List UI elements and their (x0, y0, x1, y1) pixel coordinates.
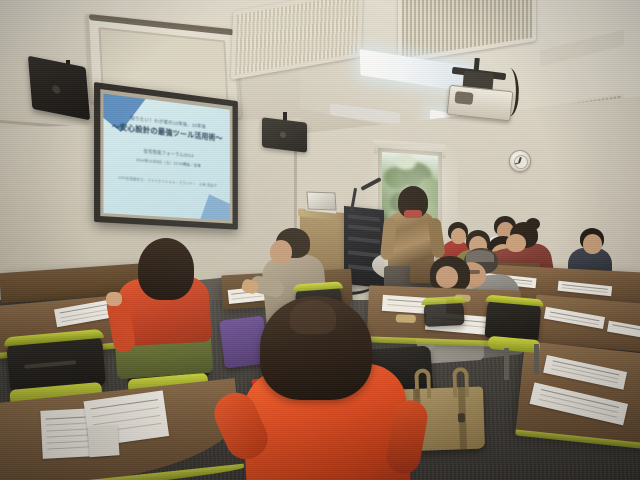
handout-paper (607, 321, 640, 341)
wall-speaker-center (262, 117, 307, 153)
projector-lens-icon (454, 91, 473, 105)
handout-paper (543, 355, 627, 390)
room: 知りたい！わが家の10年後、20年後 ～安心設計の最強ツール活用術～ 住宅性能フ… (0, 0, 640, 480)
eraser-object (396, 314, 416, 323)
presenter-laptop (306, 191, 336, 210)
handout-paper (544, 307, 605, 329)
chair-center-2 (423, 299, 464, 327)
handout-paper (530, 382, 628, 425)
slide-footer: CFP住宅設計士・ファイナンシャル・プランナー 小林 真由子 (103, 176, 229, 190)
handout-paper (54, 299, 114, 327)
seminar-room-photo: 知りたい！わが家の10年後、20年後 ～安心設計の最強ツール活用術～ 住宅性能フ… (0, 0, 640, 480)
presentation-slide: 知りたい！わが家の10年後、20年後 ～安心設計の最強ツール活用術～ 住宅性能フ… (103, 94, 229, 221)
projection-screen: 知りたい！わが家の10年後、20年後 ～安心設計の最強ツール活用術～ 住宅性能フ… (94, 82, 238, 230)
hand (106, 292, 122, 306)
handout-paper (88, 425, 120, 457)
chair-leg (534, 344, 539, 374)
chair-leg (504, 348, 509, 380)
slide-accent-shape-2 (198, 194, 230, 220)
wall-clock (509, 150, 531, 172)
handout-paper (557, 281, 612, 297)
